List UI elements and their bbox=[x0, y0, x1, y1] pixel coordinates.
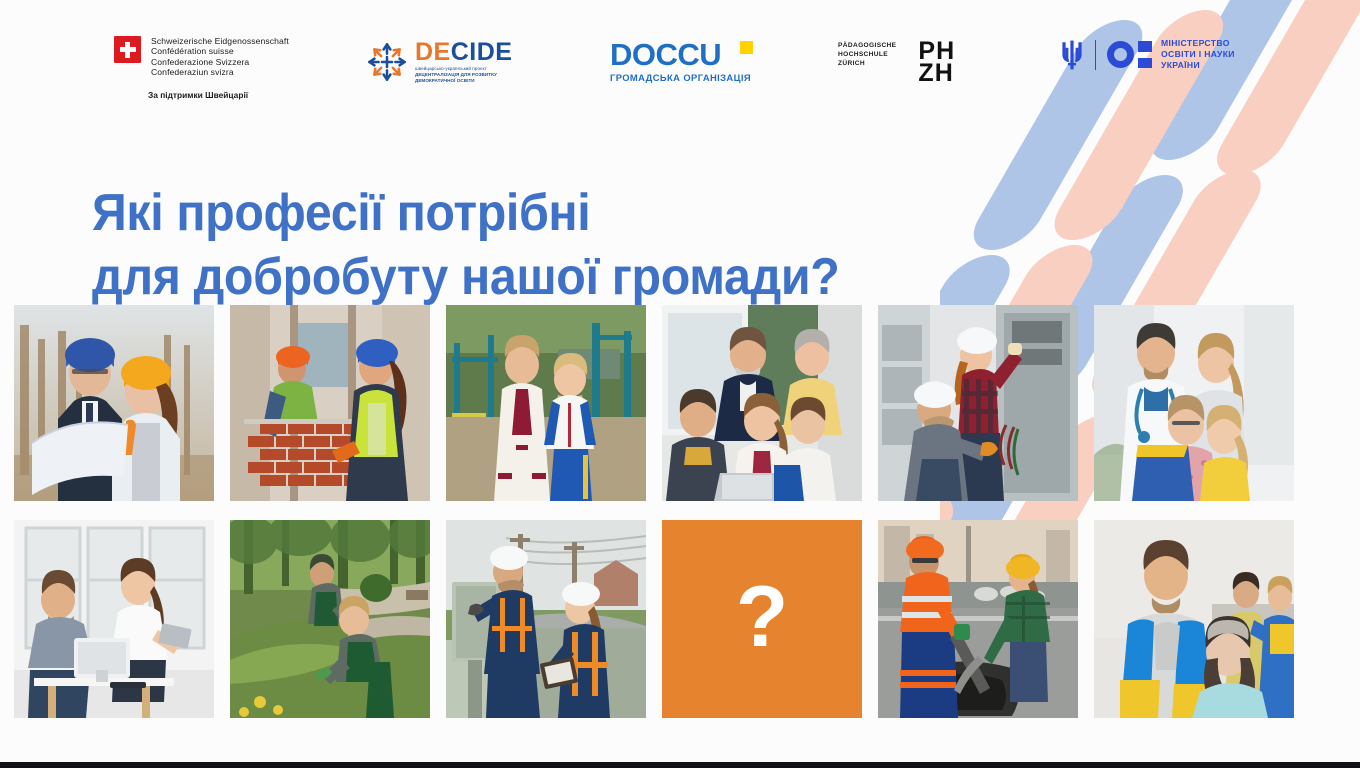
grid-tile-question-mark[interactable]: ? bbox=[662, 520, 862, 718]
slide-title: Які професії потрібні для добробуту нашо… bbox=[92, 181, 948, 309]
photo-bricklayer bbox=[230, 305, 430, 501]
doccu-wordmark: DOCCU bbox=[610, 40, 751, 70]
swiss-support-text: За підтримки Швейцарії bbox=[148, 90, 248, 100]
title-line-2: для добробуту нашої громади? bbox=[92, 245, 948, 309]
mon-bars-shape bbox=[1138, 41, 1152, 68]
photo-volunteers-elderly bbox=[1094, 520, 1294, 718]
bottom-bar bbox=[0, 762, 1360, 768]
grid-tile-utility-inspectors bbox=[446, 520, 646, 718]
photo-doctor-family bbox=[1094, 305, 1294, 501]
phzh-line2: HOCHSCHULE bbox=[838, 50, 896, 59]
mon-line1: МІНІСТЕРСТВО bbox=[1161, 38, 1235, 49]
swiss-line-fr: Confédération suisse bbox=[151, 46, 289, 56]
slide-canvas: Schweizerische Eidgenossenschaft Confédé… bbox=[0, 0, 1360, 768]
mon-line3: УКРАЇНИ bbox=[1161, 60, 1235, 71]
phzh-logo: PÄDAGOGISCHE HOCHSCHULE ZÜRICH PH ZH bbox=[838, 40, 955, 84]
photo-teachers-meeting bbox=[662, 305, 862, 501]
mon-line2: ОСВІТИ І НАУКИ bbox=[1161, 49, 1235, 60]
photo-utility-inspectors bbox=[446, 520, 646, 718]
title-line-1: Які професії потрібні bbox=[92, 181, 948, 245]
decide-subtitle: швейцарсько-український проєкт ДЕЦЕНТРАЛ… bbox=[415, 66, 512, 85]
grid-tile-gardeners-park bbox=[230, 520, 430, 718]
decide-snowflake-icon bbox=[366, 41, 408, 83]
grid-tile-electricians-panel bbox=[878, 305, 1078, 501]
swiss-line-de: Schweizerische Eidgenossenschaft bbox=[151, 36, 289, 46]
phzh-line3: ZÜRICH bbox=[838, 59, 896, 68]
grid-tile-teachers-meeting bbox=[662, 305, 862, 501]
ukraine-trident-icon bbox=[1060, 39, 1084, 71]
doccu-logo: DOCCU ГРОМАДСЬКА ОРГАНІЗАЦІЯ bbox=[610, 40, 751, 83]
partner-logo-bar: Schweizerische Eidgenossenschaft Confédé… bbox=[0, 0, 1360, 112]
decide-sub-line3: ДЕМОКРАТИЧНОЇ ОСВІТИ bbox=[415, 78, 512, 84]
mon-emblem-icon bbox=[1107, 41, 1152, 68]
grid-tile-architect-engineer bbox=[14, 305, 214, 501]
ministry-of-education-logo: МІНІСТЕРСТВО ОСВІТИ І НАУКИ УКРАЇНИ bbox=[1060, 38, 1235, 71]
mon-divider bbox=[1095, 40, 1096, 70]
grid-tile-volunteers-elderly bbox=[1094, 520, 1294, 718]
photo-road-workers bbox=[878, 520, 1078, 718]
doccu-yellow-accent-icon bbox=[740, 41, 753, 54]
doccu-word-text: DOCCU bbox=[610, 37, 721, 72]
phzh-fulltext: PÄDAGOGISCHE HOCHSCHULE ZÜRICH bbox=[838, 41, 896, 68]
grid-tile-bricklayer bbox=[230, 305, 430, 501]
mon-ring-shape bbox=[1107, 41, 1134, 68]
swiss-line-it: Confederazione Svizzera bbox=[151, 57, 289, 67]
photo-students-sportsground bbox=[446, 305, 646, 501]
decide-word: DECIDE bbox=[415, 40, 512, 64]
decide-word-de: DE bbox=[415, 38, 451, 66]
grid-tile-doctor-family bbox=[1094, 305, 1294, 501]
swiss-confederation-logo: Schweizerische Eidgenossenschaft Confédé… bbox=[114, 36, 289, 78]
photo-electricians-panel bbox=[878, 305, 1078, 501]
decide-word-cide: CIDE bbox=[451, 38, 513, 66]
phzh-block-zh: ZH bbox=[918, 62, 955, 84]
photo-office-workers bbox=[14, 520, 214, 718]
grid-tile-road-workers bbox=[878, 520, 1078, 718]
phzh-blockmark: PH ZH bbox=[918, 40, 955, 84]
grid-tile-office-workers bbox=[14, 520, 214, 718]
swiss-logo-text: Schweizerische Eidgenossenschaft Confédé… bbox=[151, 36, 289, 78]
question-mark-symbol: ? bbox=[736, 574, 789, 660]
profession-photo-grid: ? bbox=[14, 305, 1294, 718]
mon-text: МІНІСТЕРСТВО ОСВІТИ І НАУКИ УКРАЇНИ bbox=[1161, 38, 1235, 71]
swiss-cross-icon bbox=[114, 36, 141, 63]
mon-bar-bottom bbox=[1138, 58, 1152, 69]
phzh-line1: PÄDAGOGISCHE bbox=[838, 41, 896, 50]
grid-tile-students-sportsground bbox=[446, 305, 646, 501]
mon-bar-top bbox=[1138, 41, 1152, 52]
photo-architect-engineer bbox=[14, 305, 214, 501]
photo-gardeners-park bbox=[230, 520, 430, 718]
decide-logo: DECIDE швейцарсько-український проєкт ДЕ… bbox=[366, 40, 512, 85]
decide-wordmark: DECIDE швейцарсько-український проєкт ДЕ… bbox=[415, 40, 512, 85]
doccu-subtitle: ГРОМАДСЬКА ОРГАНІЗАЦІЯ bbox=[610, 72, 751, 83]
swiss-line-rm: Confederaziun svizra bbox=[151, 67, 289, 77]
